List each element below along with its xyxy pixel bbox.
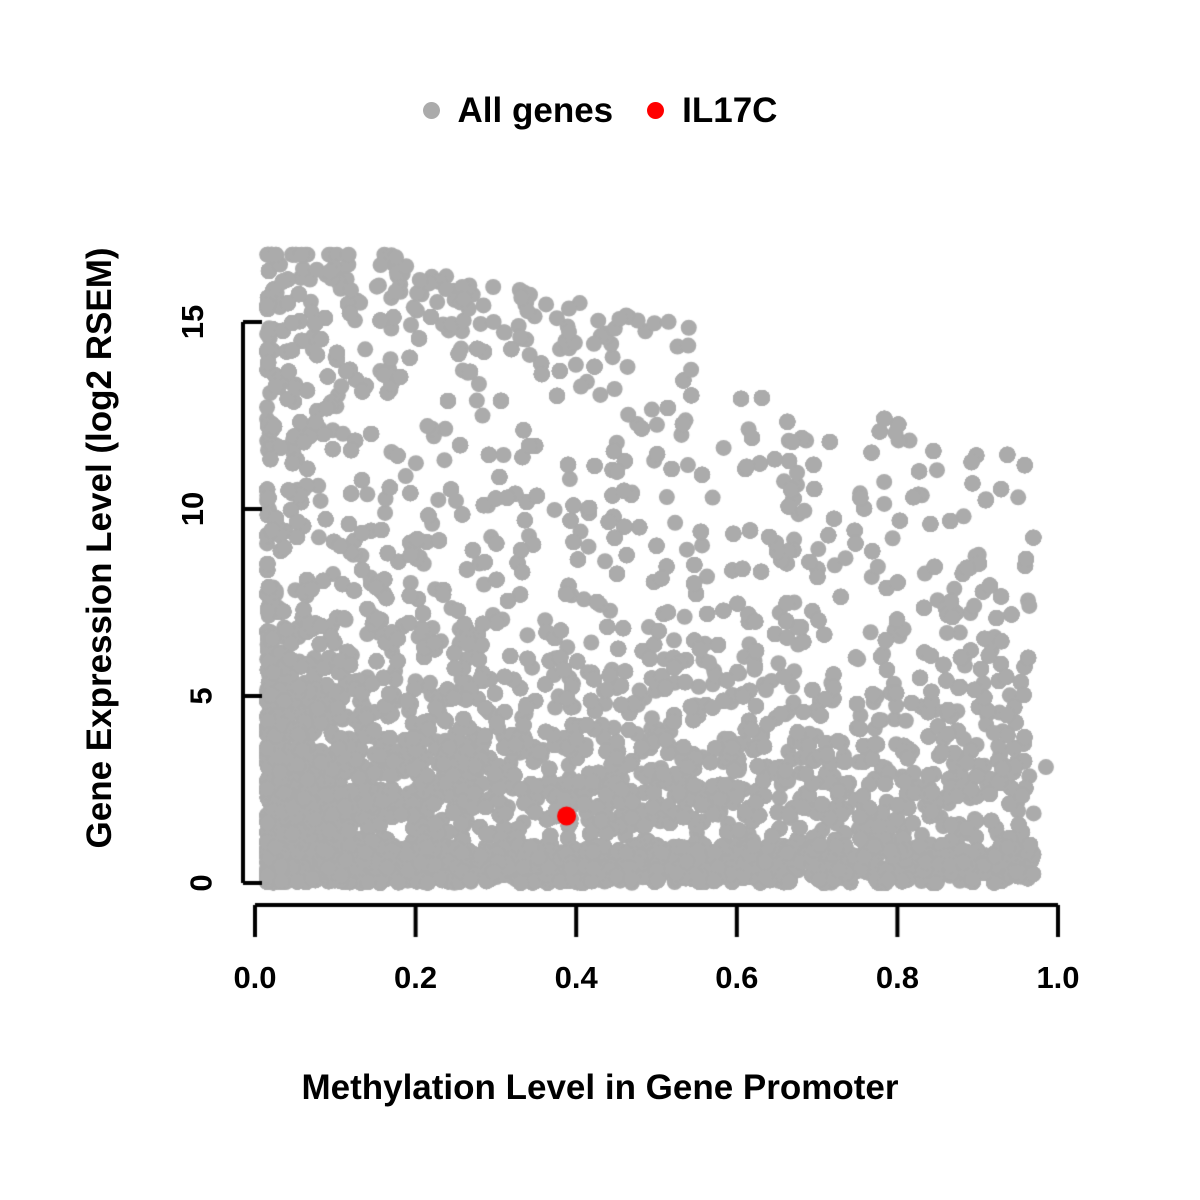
- x-tick-label: 0.6: [715, 960, 758, 996]
- legend-label-il17c: IL17C: [682, 93, 777, 128]
- y-axis-title-container: Gene Expression Level (log2 RSEM): [72, 98, 128, 998]
- x-tick-label: 0.0: [233, 960, 276, 996]
- y-tick-label: 10: [176, 491, 210, 527]
- x-tick-label: 0.2: [394, 960, 437, 996]
- x-tick-label: 0.4: [555, 960, 598, 996]
- x-axis-title: Methylation Level in Gene Promoter: [0, 1068, 1200, 1108]
- y-tick-label: 15: [176, 304, 210, 340]
- circle-marker-icon: [423, 102, 440, 119]
- legend-item-all-genes: All genes: [423, 93, 614, 128]
- legend-item-il17c: IL17C: [647, 93, 777, 128]
- chart-legend: All genes IL17C: [0, 82, 1200, 138]
- y-axis-title: Gene Expression Level (log2 RSEM): [80, 248, 120, 849]
- y-tick-label: 0: [193, 865, 210, 901]
- scatter-plot-figure: All genes IL17C Methylation Level in Gen…: [0, 0, 1200, 1200]
- x-tick-label: 0.8: [876, 960, 919, 996]
- circle-marker-icon: [647, 102, 664, 119]
- x-tick-label: 1.0: [1036, 960, 1079, 996]
- scatter-plot-canvas: [0, 0, 1200, 1200]
- y-tick-label: 5: [193, 678, 210, 714]
- legend-label-all-genes: All genes: [458, 93, 614, 128]
